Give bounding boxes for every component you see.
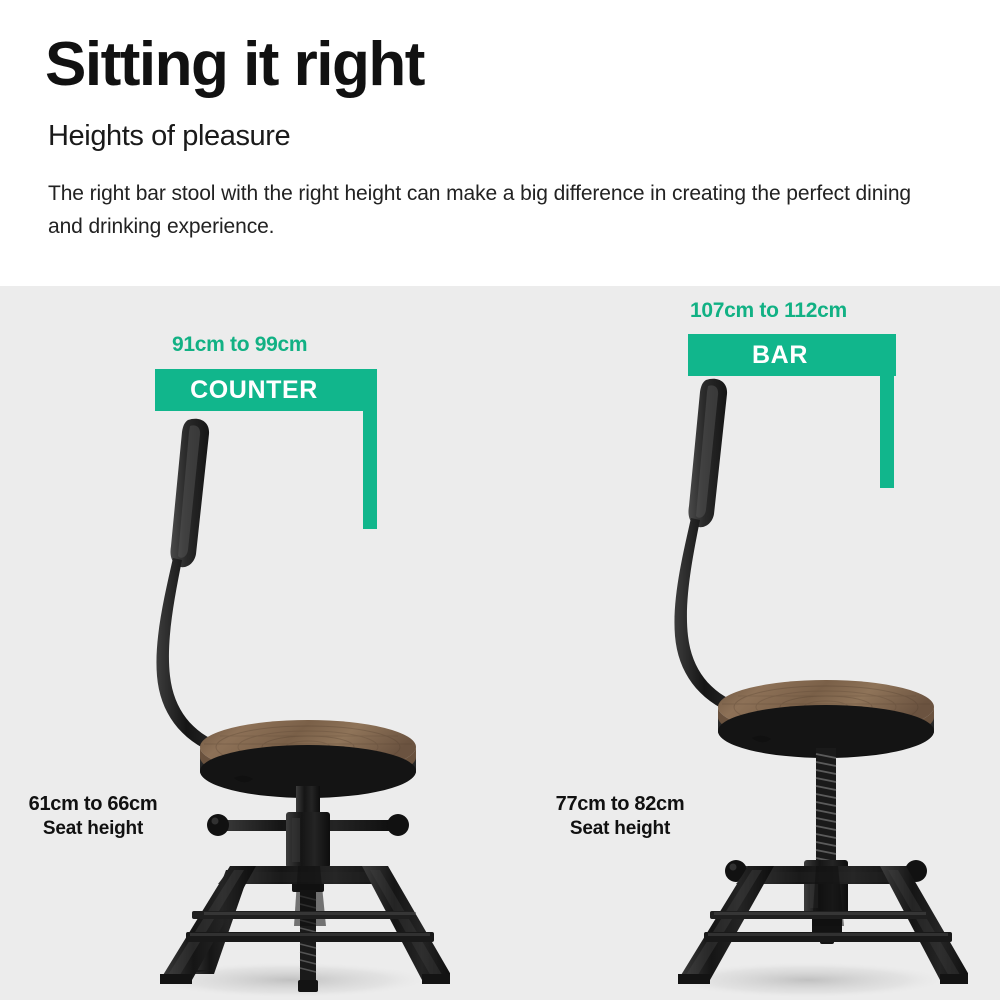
counter-callout-label: COUNTER (190, 376, 318, 405)
counter-seat-height-range: 61cm to 66cm (8, 791, 178, 817)
swivel-handle-knob-right (387, 814, 409, 836)
page-body-text: The right bar stool with the right heigh… (48, 178, 928, 243)
page-title: Sitting it right (45, 32, 424, 97)
counter-callout-drop-line (363, 411, 377, 529)
counter-range-label: 91cm to 99cm (172, 333, 307, 357)
page-subtitle: Heights of pleasure (48, 120, 290, 153)
counter-callout-bar: COUNTER (155, 369, 377, 411)
screw-thread-extended (816, 748, 836, 874)
leg-left-foot (160, 974, 192, 984)
leg-right-foot (422, 974, 450, 984)
bar-callout-label: BAR (752, 341, 808, 370)
counter-seat-height-caption: 61cm to 66cm Seat height (8, 791, 178, 842)
bar-callout-bar: BAR (688, 334, 896, 376)
header-section: Sitting it right Heights of pleasure The… (0, 0, 1000, 286)
swivel-handle-knob-left (207, 814, 229, 836)
bar-seat-height-caption: 77cm to 82cm Seat height (530, 791, 710, 842)
stage-section: 91cm to 99cm COUNTER 107cm to 112cm BAR … (0, 286, 1000, 1000)
bar-seat-height-label: Seat height (530, 817, 710, 842)
bar-callout-drop-line (880, 376, 894, 488)
infographic-page: Sitting it right Heights of pleasure The… (0, 0, 1000, 1000)
bar-range-label: 107cm to 112cm (690, 299, 847, 323)
bar-stool-illustration (648, 374, 968, 1000)
bar-seat-height-range: 77cm to 82cm (530, 791, 710, 817)
counter-seat-height-label: Seat height (8, 817, 178, 842)
leg-right-foot (940, 974, 968, 984)
counter-stool-illustration (130, 414, 450, 1000)
leg-left-foot (678, 974, 710, 984)
